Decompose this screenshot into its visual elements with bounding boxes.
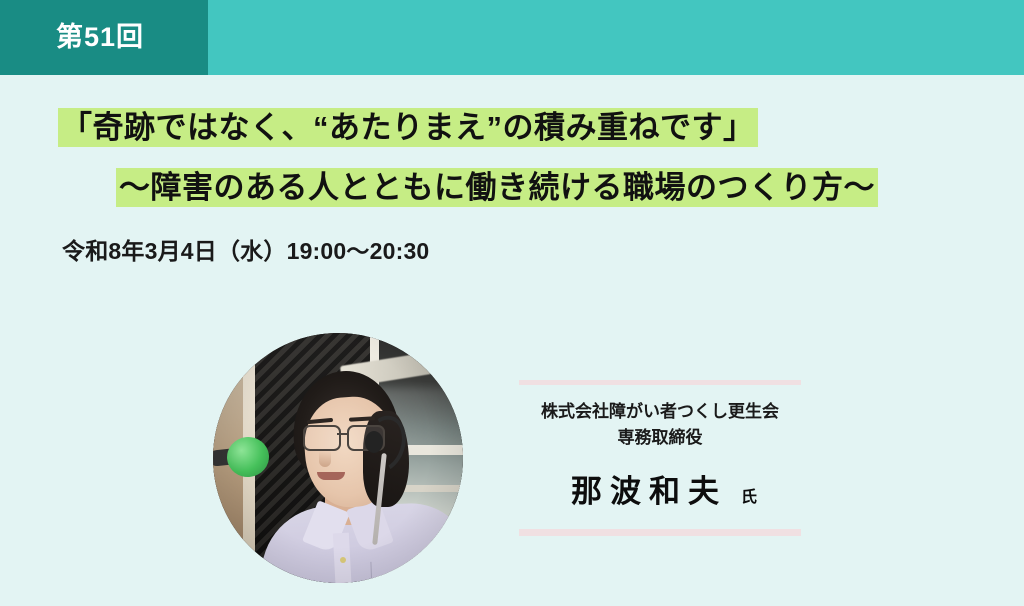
speaker-info-block: 株式会社障がい者つくし更生会 専務取締役 那波和夫 氏 <box>510 380 810 536</box>
speaker-role: 専務取締役 <box>510 425 810 451</box>
title-line-2: 〜障害のある人とともに働き続ける職場のつくり方〜 <box>116 168 878 207</box>
title-line-2-row: 〜障害のある人とともに働き続ける職場のつくり方〜 <box>0 164 1024 213</box>
speaker-organization: 株式会社障がい者つくし更生会 <box>510 399 810 425</box>
speaker-rule-top <box>519 380 801 385</box>
edition-label: 第51回 <box>0 0 208 75</box>
speaker-portrait-photo <box>213 333 463 583</box>
speaker-rule-bottom <box>519 529 801 536</box>
title-line-1-row: 「奇跡ではなく、“あたりまえ”の積み重ねです」 <box>0 104 1024 153</box>
portrait-vignette <box>213 333 463 583</box>
title-block: 「奇跡ではなく、“あたりまえ”の積み重ねです」 〜障害のある人とともに働き続ける… <box>0 104 1024 213</box>
speaker-name: 那波和夫 <box>563 466 727 511</box>
date-time-text: 令和8年3月4日（水）19:00〜20:30 <box>62 232 429 266</box>
speaker-honorific: 氏 <box>741 483 757 507</box>
title-line-1: 「奇跡ではなく、“あたりまえ”の積み重ねです」 <box>58 108 758 147</box>
speaker-name-row: 那波和夫 氏 <box>510 466 810 511</box>
seminar-announcement-slide: 第51回 「奇跡ではなく、“あたりまえ”の積み重ねです」 〜障害のある人とともに… <box>0 0 1024 606</box>
top-banner: 第51回 <box>0 0 1024 75</box>
